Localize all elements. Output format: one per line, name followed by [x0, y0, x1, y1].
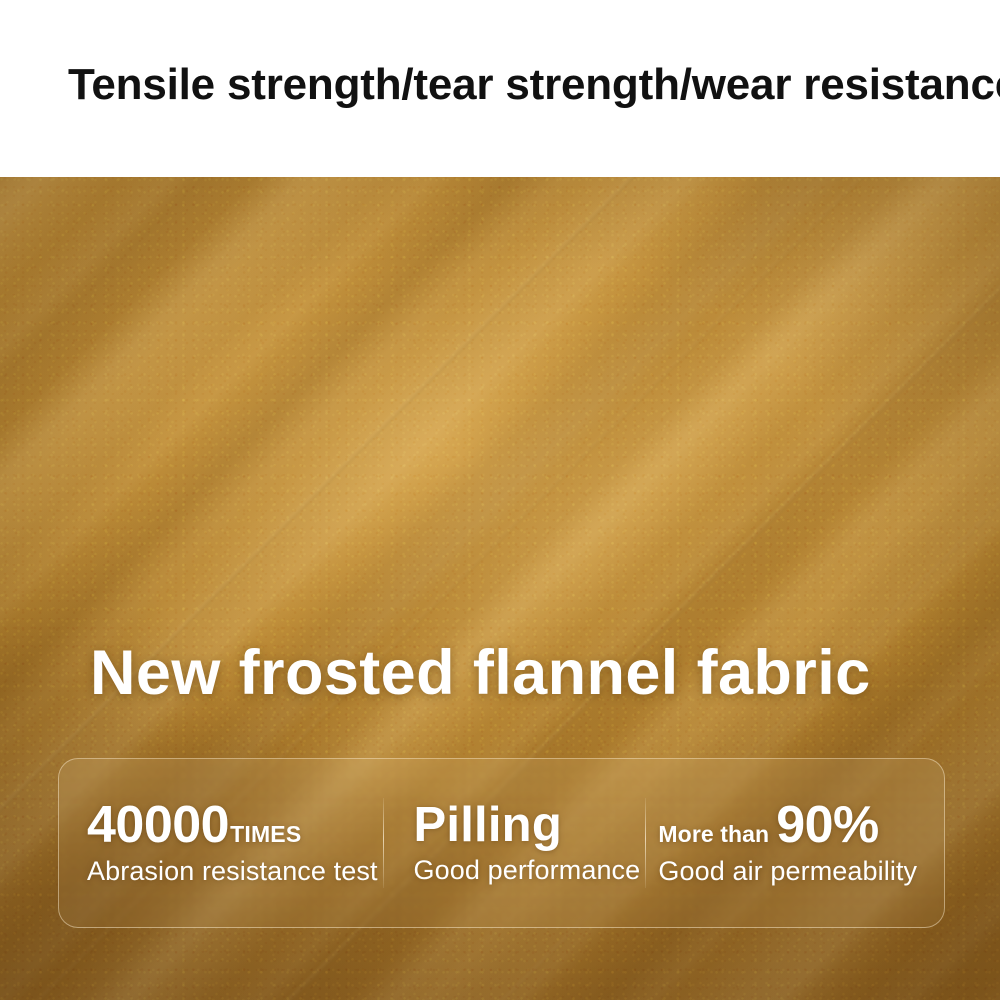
product-feature-banner: Tensile strength/tear strength/wear resi…: [0, 0, 1000, 1000]
header-band: Tensile strength/tear strength/wear resi…: [0, 0, 1000, 177]
stat-value: 40000: [87, 799, 229, 851]
stat-value-row: Pilling: [414, 801, 646, 850]
hero-headline: New frosted flannel fabric: [90, 642, 871, 705]
page-title: Tensile strength/tear strength/wear resi…: [68, 62, 1000, 108]
stat-item-air-permeability: More than 90% Good air permeability: [646, 799, 944, 887]
stats-panel: 40000 TIMES Abrasion resistance test Pil…: [58, 758, 945, 928]
stat-caption: Good performance: [414, 856, 646, 886]
stat-caption: Abrasion resistance test: [87, 857, 383, 887]
stat-unit: TIMES: [230, 823, 301, 846]
stat-value: 90%: [776, 799, 879, 851]
stat-value-row: More than 90%: [658, 799, 944, 851]
stat-caption: Good air permeability: [658, 857, 944, 887]
stat-item-pilling: Pilling Good performance: [384, 801, 646, 886]
stat-prefix: More than: [658, 823, 769, 846]
fabric-photo: New frosted flannel fabric 40000 TIMES A…: [0, 177, 1000, 1000]
stat-item-abrasion: 40000 TIMES Abrasion resistance test: [59, 799, 383, 887]
stat-value-row: 40000 TIMES: [87, 799, 383, 851]
stat-value: Pilling: [414, 801, 562, 850]
